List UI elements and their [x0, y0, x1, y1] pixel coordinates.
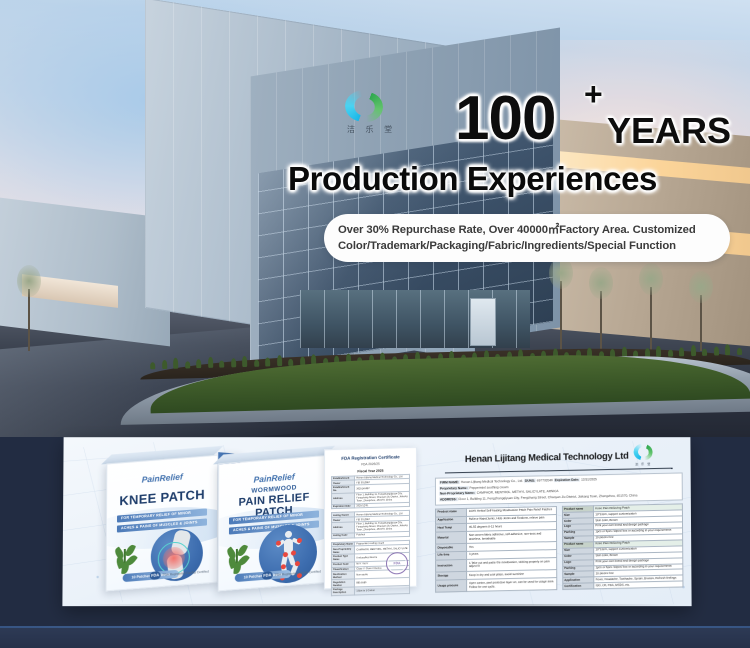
company-header: Henan Lijitang Medical Technology Ltd 洁 …	[435, 443, 683, 471]
shrub	[690, 345, 695, 356]
subheadline: Production Experiences	[288, 160, 657, 198]
firm-info-box: FIRM NAME: Henan Lijitang Medical Techno…	[435, 472, 683, 505]
product-title: KNEE PATCH	[107, 486, 217, 510]
box-front-face: PainRelief WORMWOOD PAIN RELIEF PATCH FO…	[218, 455, 330, 592]
shrub	[713, 346, 718, 355]
shrub	[254, 360, 259, 367]
shrub	[185, 361, 190, 368]
table-cell-key: Usage process	[436, 579, 467, 592]
fda-note: FDA Registered Facility Certified	[163, 569, 209, 577]
shrub	[667, 350, 672, 357]
table-cell-key: Package Description	[331, 587, 354, 595]
bottom-bar	[0, 626, 750, 648]
shrub	[219, 361, 224, 368]
spec-table-left: Product name100% Herbal Self-heating Mox…	[435, 506, 557, 593]
fda-mark-icon: FDA	[150, 571, 161, 580]
table-cell-key: Instruction	[436, 559, 467, 572]
shrub	[242, 356, 247, 367]
company-logo-chinese-text: 洁 乐 堂	[634, 461, 653, 466]
fda-note: FDA Registered Facility Certified	[275, 569, 321, 577]
entrance-door	[470, 298, 496, 346]
shrub	[276, 355, 281, 366]
facade-company-logo: 洁 乐 堂	[345, 90, 405, 142]
headline-years-label: YEARS	[607, 110, 731, 152]
shrub	[656, 346, 661, 357]
table-cell-value: 1 Box in 1 Carton	[355, 585, 410, 594]
shrub	[702, 349, 707, 356]
bottom-bar-accent	[0, 626, 750, 628]
fda-registration-certificate[interactable]: FDA Registration Certificate FDA 2026/25…	[324, 447, 417, 590]
company-swoosh-icon	[634, 443, 653, 460]
tree-5	[28, 289, 30, 351]
shrub	[162, 360, 167, 369]
certificate-table-establishment: EstablishmentHenan Lijitang Medical Tech…	[331, 473, 410, 509]
table-row: CertificationISO, CE, FDA, MSDS, etc.	[562, 581, 683, 590]
shrub	[150, 362, 155, 369]
table-cell-value: ISO, CE, FDA, MSDS, etc.	[594, 581, 683, 589]
table-row: Package Description1 Box in 1 Carton	[331, 585, 409, 595]
facade-logo-chinese-text: 洁 乐 堂	[347, 124, 396, 135]
tagline-line-2: Color/Trademark/Packaging/Fabric/Ingredi…	[338, 238, 716, 254]
hero-factory-photo: 洁 乐 堂 100 + YEARS Production Experiences…	[0, 0, 750, 437]
herb-illustration	[227, 542, 253, 570]
table-cell-key: Certification	[562, 583, 593, 590]
table-row: Usage processOpen carton, peel protectiv…	[436, 577, 557, 592]
fda-mark-icon: FDA	[262, 571, 273, 580]
shrub	[736, 348, 741, 355]
shrub	[265, 357, 270, 366]
panel-drop-shadow	[70, 604, 684, 614]
herb-illustration	[115, 542, 141, 570]
shrub	[679, 347, 684, 356]
table-cell-value: Open carton, peel protective layer on, c…	[467, 577, 556, 591]
tagline-line-1: Over 30% Repurchase Rate, Over 40000㎡Fac…	[338, 222, 716, 238]
shrub	[207, 357, 212, 368]
shrub	[231, 358, 236, 367]
shrub	[173, 358, 178, 369]
headline-number: 100	[455, 88, 555, 150]
certificate-subtitle: FDA 2026/25	[331, 460, 410, 466]
promo-banner: 洁 乐 堂 100 + YEARS Production Experiences…	[0, 0, 750, 648]
table-cell-key: Material	[436, 531, 467, 544]
table-cell-key: Address	[331, 522, 354, 533]
tagline-callout-box: Over 30% Repurchase Rate, Over 40000㎡Fac…	[324, 214, 730, 262]
table-cell-key: Address	[332, 493, 355, 504]
tree-1	[560, 281, 562, 351]
certificate-section-label: Fiscal Year 2025	[331, 467, 410, 473]
company-spec-sheet[interactable]: Henan Lijitang Medical Technology Ltd 洁 …	[435, 443, 684, 600]
spec-tables: Product name100% Herbal Self-heating Mox…	[435, 503, 683, 593]
shrub	[196, 359, 201, 368]
product-claim-bars: FOR TEMPORARY RELIEF OF MINOR ACHES & PA…	[117, 508, 207, 535]
box-front-face: PainRelief KNEE PATCH FOR TEMPORARY RELI…	[106, 455, 219, 592]
company-name: Henan Lijitang Medical Technology Ltd	[465, 450, 629, 464]
headline-plus-sign: +	[584, 76, 603, 113]
product-brand-label: PainRelief	[107, 469, 217, 488]
product-showcase-panel: KNEE PATCH PainRelief KNEE PATCH FOR TEM…	[62, 437, 691, 606]
shrub	[725, 344, 730, 355]
company-swoosh-icon	[345, 90, 383, 122]
certificate-table-listing: Listing OwnerHenan Lijitang Medical Tech…	[331, 510, 410, 538]
spec-table-right: Product nameKnee Pain Relieving PatchSiz…	[561, 503, 683, 590]
